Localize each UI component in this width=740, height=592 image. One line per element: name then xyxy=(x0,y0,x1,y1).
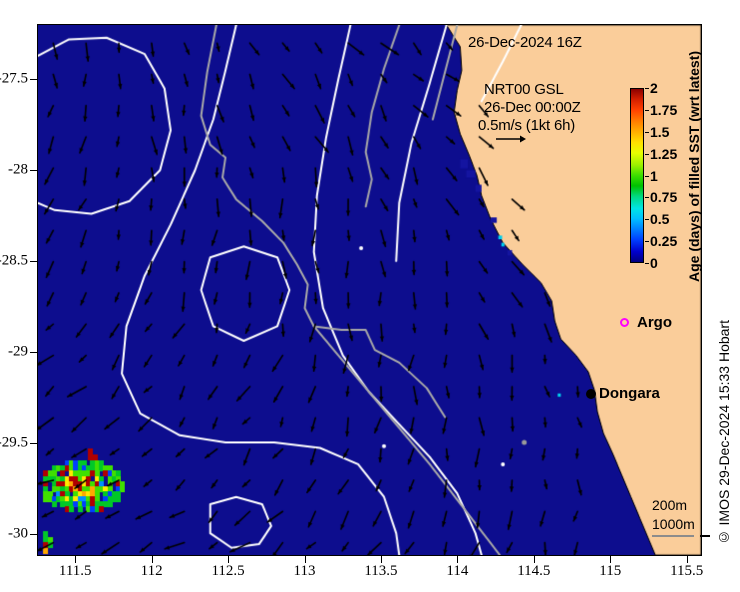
x-tick-label: 113 xyxy=(294,563,316,580)
sst-age-map-canvas[interactable] xyxy=(38,25,701,555)
colorbar-tick-label: 0.25 xyxy=(650,233,677,249)
colorbar-title: Age (days) of filled SST (wrt latest) xyxy=(686,36,706,296)
timestamp-label: 26-Dec-2024 16Z xyxy=(468,34,582,51)
colorbar-tick xyxy=(645,197,649,198)
colorbar-tick xyxy=(645,219,649,220)
x-tick-label: 114 xyxy=(446,563,468,580)
argo-float-marker-icon[interactable] xyxy=(620,318,629,327)
y-tick xyxy=(30,443,37,444)
y-tick-label: -29.5 xyxy=(0,435,28,452)
x-tick xyxy=(228,556,229,563)
colorbar-tick-label: 0.75 xyxy=(650,189,677,205)
x-tick-label: 115.5 xyxy=(670,563,703,580)
x-tick xyxy=(305,556,306,563)
colorbar-tick xyxy=(645,154,649,155)
x-tick xyxy=(75,556,76,563)
colorbar-tick-label: 1.5 xyxy=(650,124,669,140)
colorbar-tick xyxy=(645,132,649,133)
depth-legend-label-200m: 200m xyxy=(652,497,687,513)
dongara-city-label: Dongara xyxy=(599,385,660,402)
x-tick-label: 112 xyxy=(141,563,163,580)
colorbar-tick-label: 0 xyxy=(650,255,658,271)
reference-vector-arrow-icon xyxy=(496,134,526,144)
y-tick-label: -28 xyxy=(8,161,28,178)
colorbar-tick-label: 1.25 xyxy=(650,146,677,162)
source-time-label: 26-Dec 00:00Z xyxy=(484,99,581,116)
x-tick xyxy=(534,556,535,563)
colorbar-tick-label: 2 xyxy=(650,80,658,96)
map-plot-area[interactable] xyxy=(37,24,702,556)
y-tick xyxy=(30,170,37,171)
x-tick xyxy=(687,556,688,563)
copyright-label: © IMOS 29-Dec-2024 15:33 Hobart xyxy=(716,320,732,545)
x-tick-label: 115 xyxy=(599,563,621,580)
dongara-city-marker-icon[interactable] xyxy=(586,389,596,399)
oceancurrent-map-page: 111.5112112.5113113.5114114.5115115.5 -2… xyxy=(0,0,740,592)
x-tick xyxy=(610,556,611,563)
colorbar-gradient xyxy=(631,89,643,262)
x-tick-label: 113.5 xyxy=(364,563,397,580)
x-tick-label: 114.5 xyxy=(517,563,550,580)
colorbar-tick xyxy=(645,241,649,242)
colorbar-tick xyxy=(645,176,649,177)
colorbar-tick xyxy=(645,263,649,264)
colorbar-tick xyxy=(645,110,649,111)
y-tick-label: -30 xyxy=(8,526,28,543)
y-tick xyxy=(30,79,37,80)
colorbar-tick-label: 0.5 xyxy=(650,211,669,227)
colorbar-tick-label: 1 xyxy=(650,168,658,184)
colorbar xyxy=(630,88,644,263)
y-tick-label: -28.5 xyxy=(0,252,28,269)
source-model-label: NRT00 GSL xyxy=(484,81,564,98)
depth-legend-line-200m xyxy=(652,535,694,537)
y-tick-label: -27.5 xyxy=(0,70,28,87)
x-tick xyxy=(457,556,458,563)
y-tick xyxy=(30,352,37,353)
x-tick-label: 111.5 xyxy=(59,563,92,580)
colorbar-tick xyxy=(645,88,649,89)
depth-legend-line-1000m xyxy=(700,535,710,537)
colorbar-tick-label: 1.75 xyxy=(650,102,677,118)
y-tick-label: -29 xyxy=(8,343,28,360)
depth-legend-label-1000m: 1000m xyxy=(652,516,695,532)
y-tick xyxy=(30,261,37,262)
argo-legend-label: Argo xyxy=(637,314,672,331)
x-tick xyxy=(381,556,382,563)
y-tick xyxy=(30,534,37,535)
current-scale-label: 0.5m/s (1kt 6h) xyxy=(478,117,575,134)
x-tick xyxy=(152,556,153,563)
x-tick-label: 112.5 xyxy=(211,563,244,580)
